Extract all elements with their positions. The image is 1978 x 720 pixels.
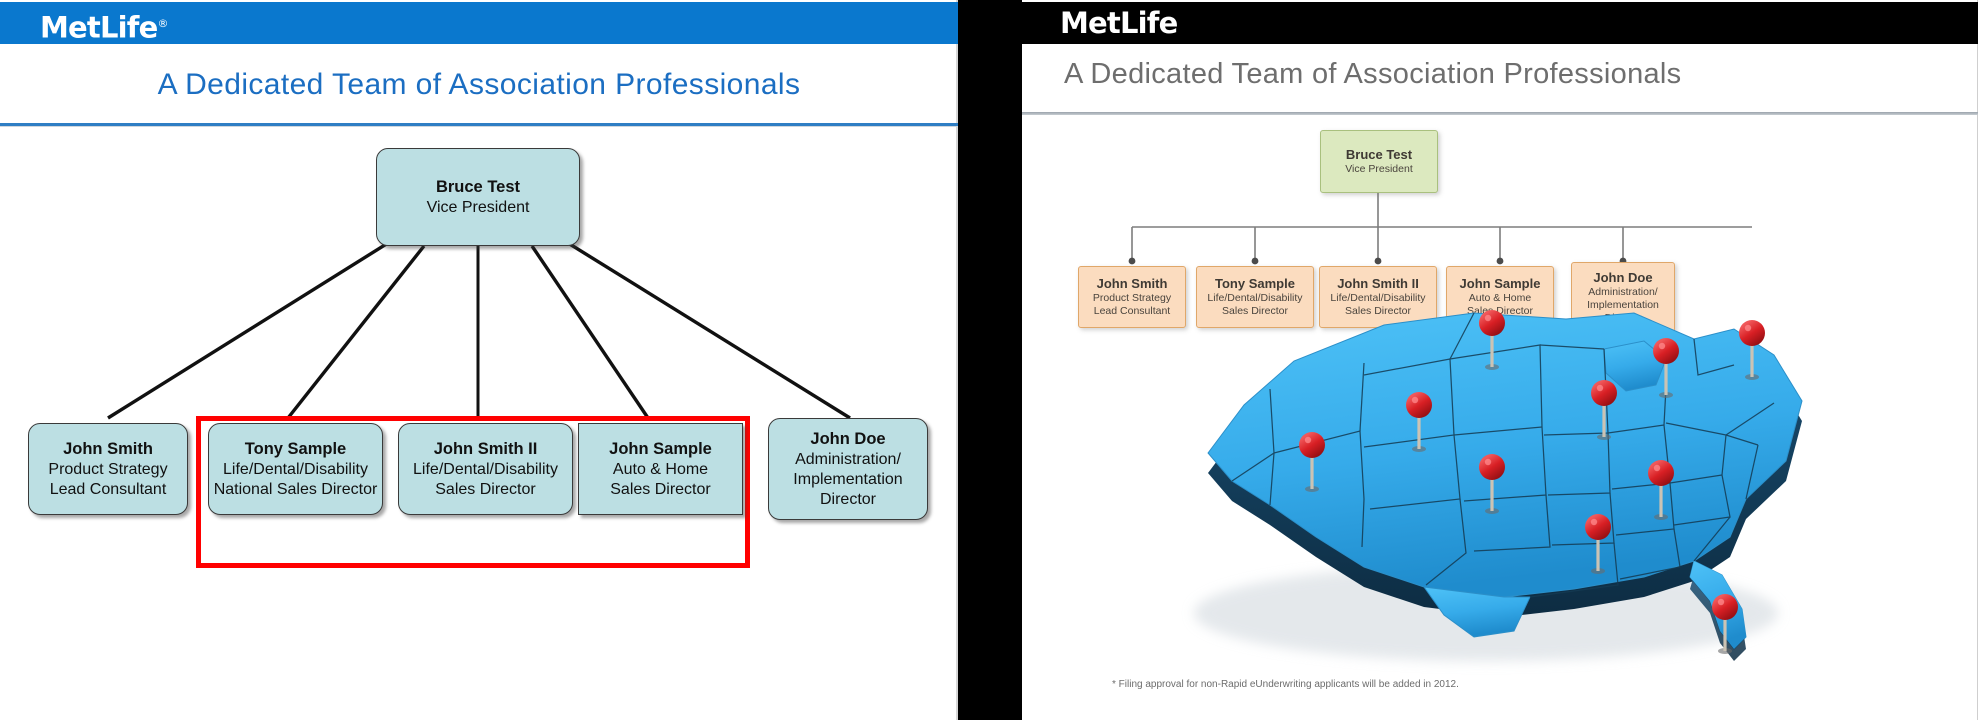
left-node-john-smith[interactable]: John Smith Product Strategy Lead Consult… (28, 423, 188, 515)
left-slide-title: A Dedicated Team of Association Professi… (0, 68, 958, 102)
registered-trademark-icon: ® (158, 17, 168, 30)
node-role-2: Implementation (793, 470, 902, 490)
metlife-logo-left: MetLife® (40, 8, 168, 44)
node-role-1: Life/Dental/Disability (413, 460, 558, 480)
metlife-logo-text-left: MetLife (40, 11, 158, 45)
right-node-bruce-test[interactable]: Bruce Test Vice President (1320, 130, 1438, 193)
us-map-svg (1174, 285, 1824, 675)
left-title-divider-shadow (0, 126, 958, 127)
node-role-2: Lead Consultant (1094, 305, 1170, 318)
right-slide-panel: MetLife A Dedicated Team of Association … (1022, 0, 1978, 720)
right-org-chart-canvas: Bruce Test Vice President John Smith Pro… (1022, 115, 1978, 720)
node-role-1: Vice President (1345, 163, 1413, 176)
right-slide-footnote: * Filing approval for non-Rapid eUnderwr… (1112, 679, 1459, 690)
node-name: John Doe (1593, 270, 1652, 286)
node-role-3: Director (820, 490, 876, 510)
left-node-john-doe[interactable]: John Doe Administration/ Implementation … (768, 418, 928, 520)
node-role-2: National Sales Director (214, 480, 378, 500)
node-name: Bruce Test (436, 177, 520, 198)
left-node-bruce-test[interactable]: Bruce Test Vice President (376, 148, 580, 246)
node-role-2: Lead Consultant (50, 480, 167, 500)
node-name: Tony Sample (245, 439, 346, 460)
left-node-john-sample[interactable]: John Sample Auto & Home Sales Director (578, 423, 743, 515)
left-node-john-smith-ii[interactable]: John Smith II Life/Dental/Disability Sal… (398, 423, 573, 515)
node-role-1: Administration/ (795, 450, 901, 470)
metlife-logo-right: MetLife (1060, 7, 1178, 40)
node-name: John Smith (63, 439, 153, 460)
node-role-2: Sales Director (435, 480, 535, 500)
left-slide-panel: MetLife® A Dedicated Team of Association… (0, 0, 958, 720)
node-name: Bruce Test (1346, 147, 1412, 163)
right-node-john-smith[interactable]: John Smith Product Strategy Lead Consult… (1078, 266, 1186, 328)
node-role-1: Product Strategy (1093, 292, 1171, 305)
united-states-map (1174, 285, 1824, 675)
right-brand-bar: MetLife (1022, 2, 1978, 44)
left-brand-bar: MetLife® (0, 2, 958, 44)
node-role-2: Sales Director (610, 480, 710, 500)
node-role-1: Vice President (427, 198, 530, 218)
node-role-1: Auto & Home (613, 460, 708, 480)
node-name: John Sample (609, 439, 712, 460)
node-name: John Doe (810, 429, 885, 450)
node-role-1: Life/Dental/Disability (223, 460, 368, 480)
right-slide-title: A Dedicated Team of Association Professi… (1064, 58, 1681, 91)
left-org-chart-canvas: Sales Team Bruce Test Vice President Joh… (0, 128, 958, 720)
screenshot-stage: MetLife® A Dedicated Team of Association… (0, 0, 1978, 720)
left-node-tony-sample[interactable]: Tony Sample Life/Dental/Disability Natio… (208, 423, 383, 515)
node-name: John Smith II (434, 439, 538, 460)
node-role-1: Product Strategy (48, 460, 167, 480)
node-name: John Smith (1097, 276, 1168, 292)
